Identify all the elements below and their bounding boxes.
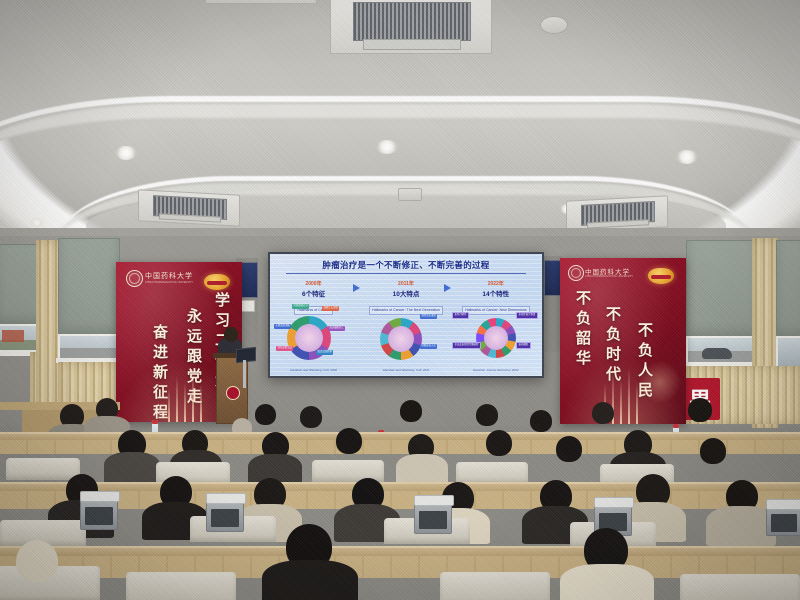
hallmark-tag: 诱导血管生成 bbox=[276, 346, 293, 351]
hallmark-tag: 表型可塑性 bbox=[452, 312, 469, 319]
university-crest-icon bbox=[126, 270, 143, 287]
audience-body bbox=[560, 564, 654, 600]
hallmark-tag: 非突变表观遗传重编程 bbox=[452, 342, 481, 349]
downlight-icon bbox=[115, 146, 137, 160]
hallmark-tag: 肿瘤促进炎症 bbox=[420, 344, 437, 349]
column-citation: Hanahan and Weinberg, Cell, 2011 bbox=[365, 368, 447, 372]
laptop bbox=[236, 347, 256, 363]
podium-crest-icon bbox=[226, 386, 240, 400]
presentation-slide: 肿瘤治疗是一个不断修正、不断完善的过程 2000年 6个特征 Hallmarks… bbox=[270, 254, 542, 376]
banner-right: 中国药科大学 CHINA PHARMACEUTICAL UNIVERSITY 不… bbox=[560, 258, 686, 424]
slide-column-2: 2011年 10大特点 Hallmarks of Cancer: The Nex… bbox=[365, 280, 447, 316]
speaker-head bbox=[224, 327, 238, 342]
slide-column-3: 2022年 14个特性 Hallmarks of Cancer: New Dim… bbox=[455, 280, 537, 316]
column-count: 10大特点 bbox=[365, 288, 447, 298]
ac-vent-icon bbox=[138, 189, 240, 226]
column-year: 2022年 bbox=[455, 280, 537, 287]
audience-head bbox=[476, 404, 498, 426]
column-count: 14个特性 bbox=[455, 288, 537, 298]
window-blind-right-2[interactable] bbox=[776, 240, 800, 338]
column-citation: Hanahan, Cancer Discovery, 2022 bbox=[455, 368, 537, 372]
hallmark-tag: 持续增殖信号 bbox=[292, 304, 309, 309]
seat-back[interactable] bbox=[6, 458, 80, 480]
ceiling-projector-mount bbox=[398, 188, 422, 201]
ac-vent-icon bbox=[205, 0, 317, 4]
party-emblem-icon bbox=[204, 274, 230, 290]
hallmark-tag: 抵抗细胞死亡 bbox=[328, 326, 345, 331]
hallmark-tag: 衰老细胞 bbox=[516, 342, 531, 349]
downlight-icon bbox=[376, 140, 398, 154]
audience-body bbox=[104, 452, 160, 484]
column-year: 2000年 bbox=[273, 280, 355, 287]
title-underline bbox=[286, 273, 525, 274]
hallmark-tag: 无限复制潜能 bbox=[274, 324, 291, 329]
hallmarks-ring-2 bbox=[380, 318, 422, 360]
audience-head bbox=[556, 436, 582, 462]
lecture-hall-photo: 果 中国药科大学 CHINA PHARMACEUTICAL UNIVERSITY… bbox=[0, 0, 800, 600]
window-right-2 bbox=[776, 336, 800, 368]
mic-stand bbox=[243, 360, 246, 388]
audience-head bbox=[16, 540, 58, 582]
hallmarks-ring-3 bbox=[476, 318, 516, 358]
smoke-detector-icon bbox=[540, 16, 568, 34]
downlight-icon bbox=[30, 218, 44, 227]
window-blind-left-2[interactable] bbox=[58, 238, 120, 336]
audience-head bbox=[592, 402, 614, 424]
audience-head bbox=[300, 406, 322, 428]
column-citation: Hanahan and Weinberg, Cell, 2000 bbox=[273, 368, 355, 372]
seat-back[interactable] bbox=[126, 572, 236, 600]
downlight-icon bbox=[676, 150, 698, 164]
seat-back[interactable] bbox=[456, 462, 528, 484]
desk-bin[interactable] bbox=[206, 494, 244, 532]
audience-head bbox=[400, 400, 422, 422]
audience-head bbox=[700, 438, 726, 464]
desk-bin[interactable] bbox=[766, 500, 800, 536]
audience-body bbox=[262, 560, 358, 600]
hallmark-tag: 多态性微生物组 bbox=[516, 312, 538, 319]
seat-back[interactable] bbox=[440, 572, 550, 600]
desk-bin[interactable] bbox=[414, 496, 452, 534]
ac-vent-icon bbox=[330, 0, 492, 54]
hallmark-tag: 激活浸润转移 bbox=[316, 350, 333, 355]
audience-head bbox=[336, 428, 362, 454]
slide-column-1: 2000年 6个特征 Hallmarks of Cancer bbox=[273, 280, 355, 316]
university-crest-icon bbox=[568, 265, 584, 281]
column-count: 6个特征 bbox=[273, 288, 355, 298]
wall-camera-icon bbox=[241, 300, 255, 312]
audience-head bbox=[255, 404, 276, 425]
slide-title: 肿瘤治疗是一个不断修正、不断完善的过程 bbox=[270, 259, 542, 271]
car-outside bbox=[702, 348, 732, 359]
hallmark-tag: 逃避生长抑制 bbox=[322, 306, 339, 311]
projection-screen: 肿瘤治疗是一个不断修正、不断完善的过程 2000年 6个特征 Hallmarks… bbox=[268, 252, 544, 378]
window-blind-right[interactable] bbox=[686, 240, 758, 338]
column-year: 2011年 bbox=[365, 280, 447, 287]
seat-back[interactable] bbox=[680, 574, 800, 600]
hallmark-tag: 避免免疫摧毁 bbox=[420, 314, 437, 319]
audience-head bbox=[530, 410, 552, 432]
desk-bin[interactable] bbox=[80, 492, 118, 530]
audience-head bbox=[486, 430, 512, 456]
audience-head bbox=[688, 398, 712, 422]
party-emblem-icon bbox=[648, 268, 674, 284]
